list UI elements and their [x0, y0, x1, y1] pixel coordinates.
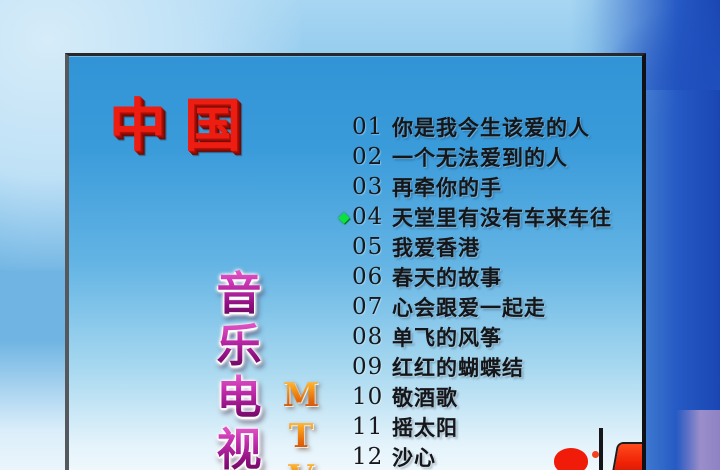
song-number: 02 [352, 144, 392, 170]
desktop-screen: 中国 音 乐 电 视 M T V 01 你是我今生该爱的人 02 一个无法爱到的… [0, 0, 720, 470]
song-number: 06 [352, 264, 392, 290]
vertical-title-music-tv: 音 乐 电 视 [205, 268, 273, 470]
song-title: 你是我今生该爱的人 [392, 112, 590, 142]
song-title: 敬酒歌 [392, 382, 458, 412]
song-number: 10 [352, 384, 392, 410]
vertical-title-char-4: 视 [205, 424, 273, 470]
song-title: 红红的蝴蝶结 [392, 352, 524, 382]
list-item-selected[interactable]: ◆ 04 天堂里有没有车来车往 [352, 202, 646, 232]
mtv-letter-v: V [281, 456, 321, 470]
list-item[interactable]: 05 我爱香港 [352, 232, 646, 262]
video-panel-frame[interactable]: 中国 音 乐 电 视 M T V 01 你是我今生该爱的人 02 一个无法爱到的… [65, 53, 646, 470]
decorative-black-bar [599, 428, 603, 470]
mtv-letter-t: T [281, 415, 321, 456]
list-item[interactable]: 09 红红的蝴蝶结 [352, 352, 646, 382]
song-number: 04 [352, 204, 392, 230]
song-title: 摇太阳 [392, 412, 458, 442]
list-item[interactable]: 06 春天的故事 [352, 262, 646, 292]
list-item[interactable]: 02 一个无法爱到的人 [352, 142, 646, 172]
decorative-red-ribbon [611, 442, 646, 470]
song-number: 12 [352, 444, 392, 470]
song-number: 03 [352, 174, 392, 200]
song-title: 一个无法爱到的人 [392, 142, 568, 172]
decorative-red-dot [592, 451, 599, 458]
list-item[interactable]: 03 再牵你的手 [352, 172, 646, 202]
song-title: 天堂里有没有车来车往 [392, 202, 612, 232]
list-item[interactable]: 07 心会跟爱一起走 [352, 292, 646, 322]
page-title-china: 中国 [109, 98, 259, 155]
song-number: 09 [352, 354, 392, 380]
song-number: 11 [352, 414, 392, 440]
wallpaper-purple-sliver [676, 410, 720, 470]
song-number: 08 [352, 324, 392, 350]
decorative-red-blob [554, 448, 588, 470]
song-number: 01 [352, 114, 392, 140]
song-title: 春天的故事 [392, 262, 502, 292]
song-number: 05 [352, 234, 392, 260]
vertical-title-char-2: 乐 [205, 320, 273, 372]
list-item[interactable]: 08 单飞的风筝 [352, 322, 646, 352]
vertical-title-char-3: 电 [205, 372, 273, 424]
vertical-title-char-1: 音 [205, 268, 273, 320]
song-title: 我爱香港 [392, 232, 480, 262]
song-number: 07 [352, 294, 392, 320]
song-list[interactable]: 01 你是我今生该爱的人 02 一个无法爱到的人 03 再牵你的手 ◆ 04 天… [352, 112, 646, 470]
song-title: 沙心 [392, 442, 436, 470]
song-title: 单飞的风筝 [392, 322, 502, 352]
list-item[interactable]: 01 你是我今生该爱的人 [352, 112, 646, 142]
list-item[interactable]: 10 敬酒歌 [352, 382, 646, 412]
selection-diamond-icon: ◆ [337, 210, 351, 225]
mtv-letter-m: M [281, 374, 321, 415]
song-title: 心会跟爱一起走 [392, 292, 546, 322]
mtv-logo: M T V [281, 374, 321, 470]
song-title: 再牵你的手 [392, 172, 502, 202]
